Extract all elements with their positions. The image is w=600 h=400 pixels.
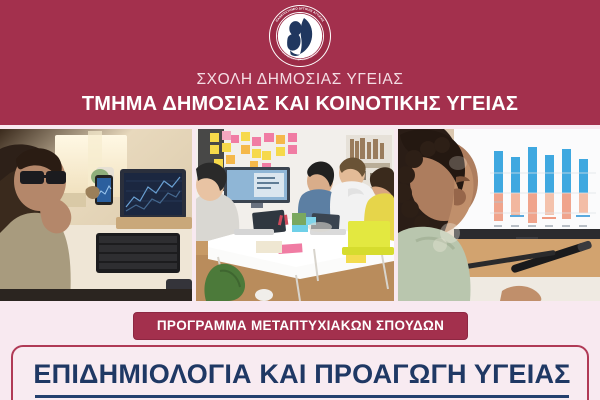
university-seal-logo: ΠΑΝΕΠΙΣΤΗΜΙΟ ΔΥΤΙΚΗΣ ΑΤΤΙΚΗΣ UNIVERSITY … <box>268 4 332 68</box>
photo-woman-writing-with-bar-chart-monitor <box>398 129 600 301</box>
photo-team-meeting-with-sticky-notes <box>196 129 394 301</box>
photo-strip <box>0 129 600 301</box>
school-title: ΣΧΟΛΗ ΔΗΜΟΣΙΑΣ ΥΓΕΙΑΣ <box>0 71 600 89</box>
program-title-underline <box>35 395 569 398</box>
program-title: ΕΠΙΔΗΜΙΟΛΟΓΙΑ ΚΑΙ ΠΡΟΑΓΩΓΗ ΥΓΕΙΑΣ <box>13 359 589 390</box>
header-band: ΠΑΝΕΠΙΣΤΗΜΙΟ ΔΥΤΙΚΗΣ ΑΤΤΙΚΗΣ UNIVERSITY … <box>0 0 600 125</box>
postgraduate-program-button[interactable]: ΠΡΟΓΡΑΜΜΑ ΜΕΤΑΠΤΥΧΙΑΚΩΝ ΣΠΟΥΔΩΝ <box>133 312 468 340</box>
poster-root: ΠΑΝΕΠΙΣΤΗΜΙΟ ΔΥΤΙΚΗΣ ΑΤΤΙΚΗΣ UNIVERSITY … <box>0 0 600 400</box>
photo-man-at-desk-with-phone-and-laptop <box>0 129 192 301</box>
program-title-box: ΕΠΙΔΗΜΙΟΛΟΓΙΑ ΚΑΙ ΠΡΟΑΓΩΓΗ ΥΓΕΙΑΣ <box>11 345 589 400</box>
department-title: ΤΜΗΜΑ ΔΗΜΟΣΙΑΣ ΚΑΙ ΚΟΙΝΟΤΙΚΗΣ ΥΓΕΙΑΣ <box>0 93 600 116</box>
